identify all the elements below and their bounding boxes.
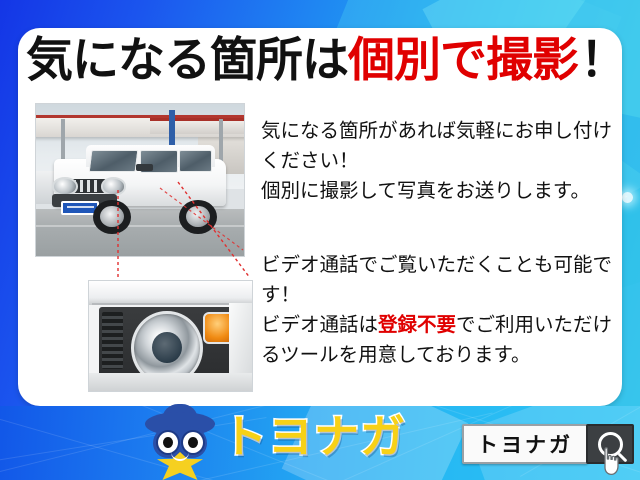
detail-grille-vent (102, 312, 123, 369)
headline-exclamation: ！ (578, 36, 626, 83)
highlight-no-registration: 登録不要 (378, 314, 456, 336)
detail-hood (89, 281, 252, 305)
car-rear-wheel (179, 200, 217, 234)
advertisement-slide: 気になる箇所は個別で撮影！ (0, 0, 640, 480)
photo-jimny-car (51, 145, 230, 230)
photo-canopy-2 (150, 118, 245, 135)
detail-bumper (89, 373, 252, 391)
main-car-photo (35, 103, 245, 257)
body-paragraph-2: ビデオ通話でご覧いただくことも可能です！ ビデオ通話は登録不要でご利用いただける… (261, 250, 617, 370)
headline-black-part: 気になる箇所は (26, 36, 348, 83)
car-windshield (89, 150, 138, 172)
detail-hood-line (92, 303, 249, 305)
light-node-icon (622, 192, 633, 203)
page-title: 気になる箇所は個別で撮影！ (26, 30, 616, 88)
toyonaga-mascot-icon (143, 410, 217, 478)
brand-logo-text: トヨナガ (222, 414, 406, 459)
search-input[interactable]: トヨナガ (462, 424, 588, 464)
body-line: ビデオ通話でご覧いただくことも可能です！ (261, 250, 617, 310)
car-mirror (136, 164, 152, 171)
hand-cursor-icon (598, 446, 624, 476)
body-line: 気になる箇所があれば気軽にお申し付けください！ (261, 116, 617, 176)
headline-red-part: 個別で撮影 (348, 36, 578, 83)
body-text-pre: ビデオ通話は (261, 314, 378, 336)
body-line: 個別に撮影して写真をお送りします。 (261, 176, 617, 206)
body-line-with-highlight: ビデオ通話は登録不要でご利用いただけるツールを用意しております。 (261, 310, 617, 370)
detail-fender-corner (229, 303, 252, 382)
body-paragraph-1: 気になる箇所があれば気軽にお申し付けください！ 個別に撮影して写真をお送りします… (261, 116, 617, 206)
headlight-detail-photo (88, 280, 253, 392)
car-front-wheel (93, 200, 131, 234)
car-window (179, 150, 211, 172)
